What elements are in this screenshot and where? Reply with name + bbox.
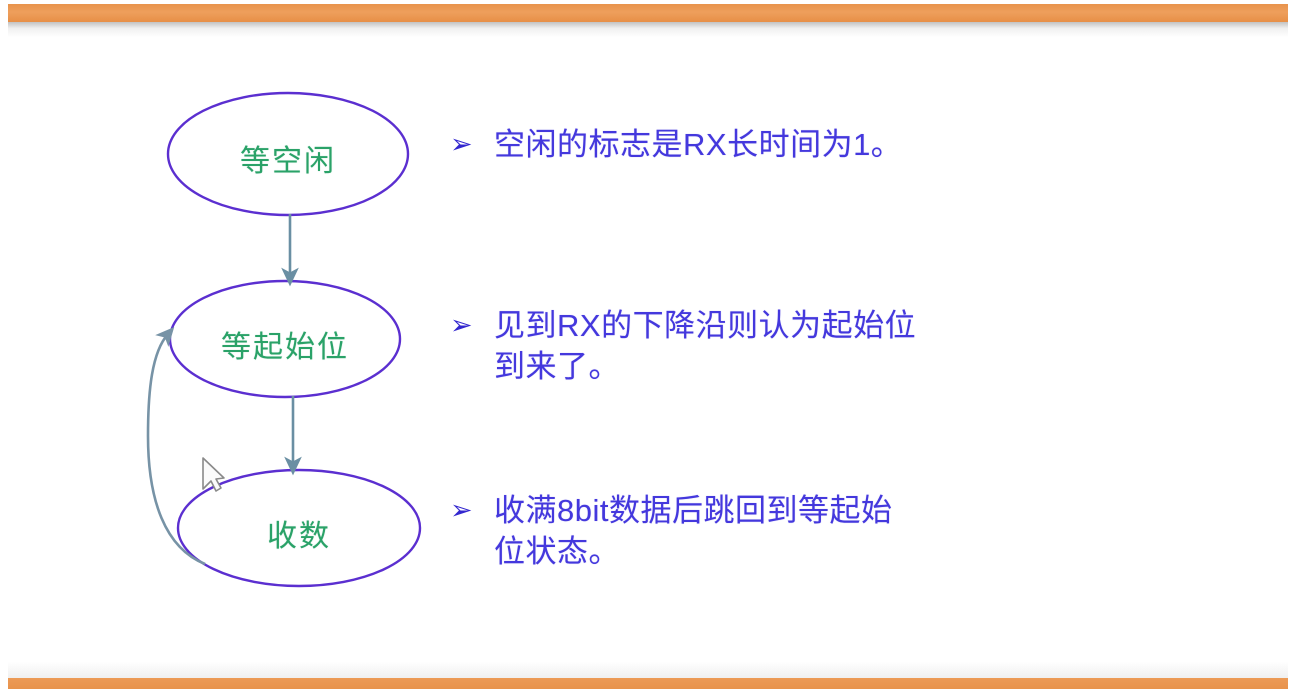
bullet-arrow-icon: ➢ (450, 124, 494, 165)
state-node-idle-label: 等空闲 (168, 136, 408, 180)
bullet-item-start-bit: ➢ 见到RX的下降沿则认为起始位 到来了。 (450, 305, 1040, 387)
bullet-arrow-icon: ➢ (450, 305, 494, 346)
bullet-item-text: 见到RX的下降沿则认为起始位 到来了。 (494, 305, 1040, 387)
bullet-item-text: 空闲的标志是RX长时间为1。 (494, 124, 1070, 165)
bullet-item-idle: ➢ 空闲的标志是RX长时间为1。 (450, 124, 1070, 165)
bullet-item-receive: ➢ 收满8bit数据后跳回到等起始 位状态。 (450, 490, 1040, 572)
state-node-wait-start-bit-label: 等起始位 (170, 322, 400, 366)
bullet-list: ➢ 空闲的标志是RX长时间为1。 ➢ 见到RX的下降沿则认为起始位 到来了。 ➢… (450, 0, 1280, 689)
slide-canvas: 等空闲 等起始位 收数 ➢ 空闲的标志是RX长时间为1。 ➢ 见到RX的下降沿则… (0, 0, 1296, 689)
bullet-item-text: 收满8bit数据后跳回到等起始 位状态。 (494, 490, 1040, 572)
state-node-receive-label: 收数 (178, 511, 420, 555)
bullet-arrow-icon: ➢ (450, 490, 494, 531)
